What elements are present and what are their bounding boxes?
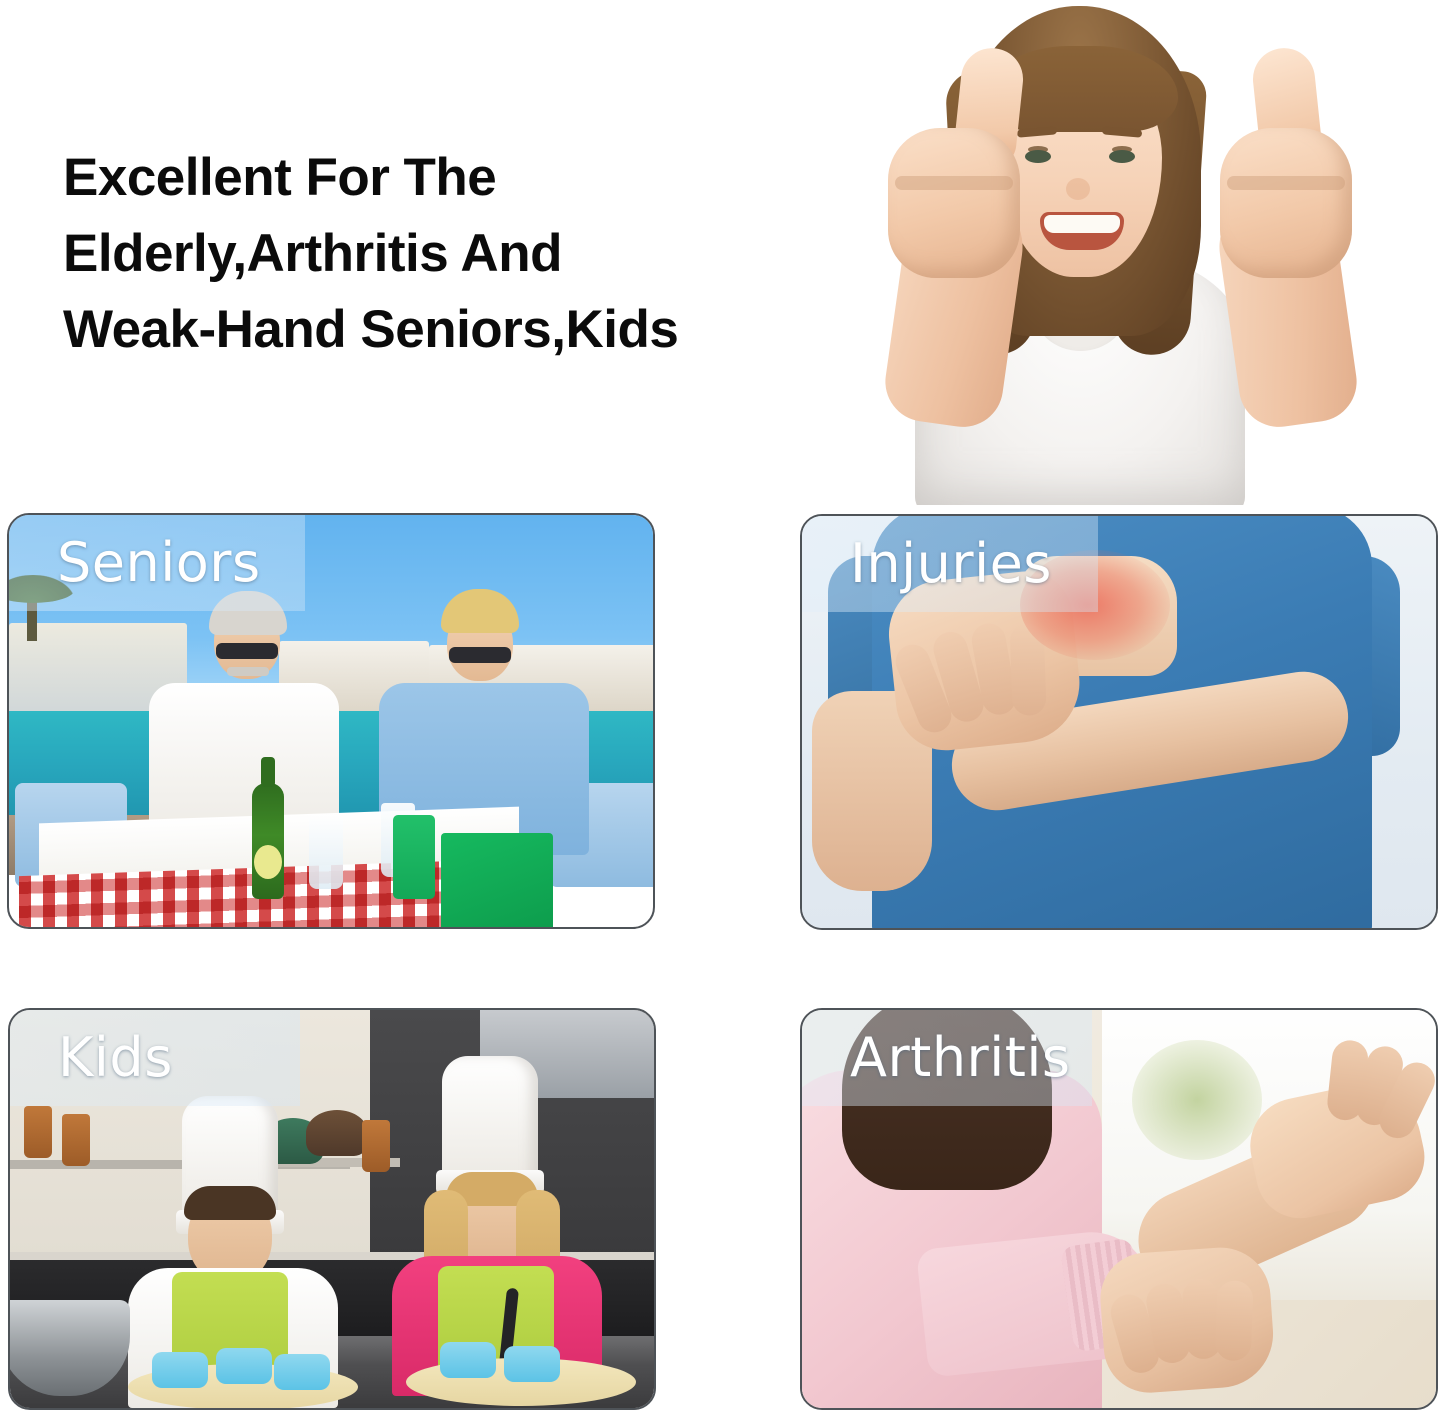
panel-label-kids: Kids (10, 1010, 300, 1106)
panel-kids: Kids (8, 1008, 656, 1410)
cookie-cutter (152, 1352, 208, 1388)
panel-label-arthritis: Arthritis (802, 1010, 1092, 1106)
hero-eye-right (1109, 150, 1135, 163)
cookie-cutter (274, 1354, 330, 1390)
girl-thumbs-up-photo (700, 0, 1445, 505)
kitchen-jar (362, 1120, 390, 1172)
hero-smile (1040, 212, 1124, 250)
hero-fist-right (1220, 128, 1352, 278)
beer-bottle (252, 783, 284, 899)
hero-eye-left (1025, 150, 1051, 163)
kitchen-jar (24, 1106, 52, 1158)
chef-hat (442, 1056, 538, 1184)
panel-label-seniors: Seniors (9, 515, 305, 611)
panel-seniors: Seniors (7, 513, 655, 929)
panel-arthritis: Arthritis (800, 1008, 1438, 1410)
cookie-cutter (440, 1342, 496, 1378)
drinking-glass (309, 815, 343, 889)
foliage-blur (1132, 1040, 1262, 1160)
kitchen-jar (62, 1114, 90, 1166)
cookie-cutter (504, 1346, 560, 1382)
cookie-cutter (216, 1348, 272, 1384)
panel-label-text: Kids (58, 1031, 173, 1085)
bottle-label (254, 845, 282, 879)
panel-label-text: Seniors (57, 536, 261, 590)
hero-nose (1066, 178, 1090, 200)
gripping-hand (1097, 1244, 1276, 1396)
hero-teeth (1044, 215, 1120, 233)
panel-label-injuries: Injuries (802, 516, 1098, 612)
panel-label-text: Arthritis (850, 1031, 1071, 1085)
woman-sunglasses (449, 647, 511, 663)
finger (1215, 1280, 1254, 1361)
panel-label-text: Injuries (850, 537, 1052, 591)
boy-hair (184, 1186, 276, 1220)
man-sunglasses (216, 643, 278, 659)
panel-injuries: Injuries (800, 514, 1438, 930)
green-bag (441, 833, 553, 927)
hero-knuckles-left (895, 176, 1013, 190)
hero-knuckles-right (1227, 176, 1345, 190)
hero-fist-left (888, 128, 1020, 278)
green-can (393, 815, 435, 899)
man-moustache (227, 667, 269, 676)
kettle (306, 1110, 368, 1156)
